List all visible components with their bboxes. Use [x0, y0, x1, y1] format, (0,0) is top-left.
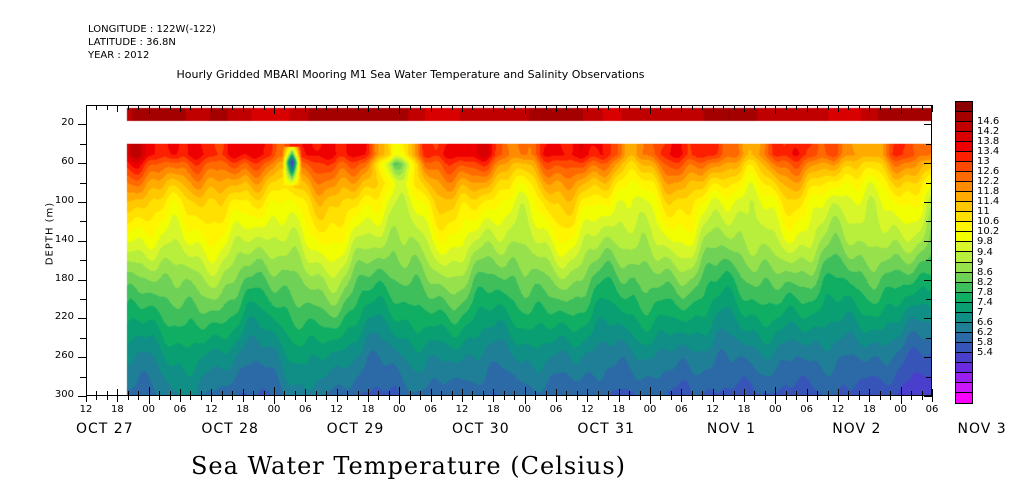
- x-tick: [754, 105, 755, 110]
- x-tick: [848, 105, 849, 110]
- x-tick: [922, 396, 923, 400]
- colorbar-cell: [956, 152, 972, 162]
- colorbar-cell: [956, 383, 972, 393]
- y-tick: [78, 163, 86, 164]
- x-tick: [243, 396, 244, 402]
- x-tick: [692, 396, 693, 400]
- x-hour-label: 18: [228, 404, 258, 415]
- x-tick: [796, 396, 797, 400]
- y-tick: [78, 396, 86, 397]
- x-tick: [640, 396, 641, 400]
- x-tick: [86, 105, 87, 112]
- x-tick: [170, 105, 171, 110]
- x-tick: [650, 105, 651, 114]
- y-tick: [80, 183, 86, 184]
- x-tick: [149, 387, 150, 396]
- x-day-label: OCT 29: [300, 421, 410, 437]
- heatmap-canvas: [87, 106, 931, 395]
- x-hour-label: 06: [165, 404, 195, 415]
- colorbar-cell: [956, 222, 972, 232]
- x-tick: [431, 389, 432, 396]
- colorbar-cell: [956, 212, 972, 222]
- x-tick: [378, 396, 379, 400]
- plot-area: [86, 105, 932, 396]
- y-tick: [926, 144, 932, 145]
- x-tick: [316, 105, 317, 110]
- x-tick: [358, 396, 359, 400]
- x-tick: [483, 396, 484, 400]
- x-tick: [744, 389, 745, 396]
- x-tick: [765, 396, 766, 400]
- x-tick: [650, 396, 651, 404]
- x-tick: [598, 105, 599, 110]
- y-tick: [926, 338, 932, 339]
- x-tick: [180, 389, 181, 396]
- x-tick: [180, 396, 181, 402]
- x-tick: [546, 396, 547, 400]
- x-tick: [577, 396, 578, 400]
- x-tick: [274, 396, 275, 404]
- x-tick: [159, 105, 160, 110]
- x-hour-label: 00: [635, 404, 665, 415]
- y-tick: [78, 280, 86, 281]
- x-tick: [598, 396, 599, 400]
- x-tick: [232, 396, 233, 400]
- x-tick: [650, 387, 651, 396]
- x-tick: [222, 396, 223, 400]
- x-tick: [337, 389, 338, 396]
- x-tick: [838, 105, 839, 112]
- x-hour-label: 12: [196, 404, 226, 415]
- x-tick: [556, 396, 557, 402]
- x-hour-label: 00: [760, 404, 790, 415]
- x-tick: [462, 389, 463, 396]
- x-hour-label: 18: [102, 404, 132, 415]
- x-tick: [702, 105, 703, 110]
- x-tick: [786, 396, 787, 400]
- y-tick: [80, 260, 86, 261]
- x-tick: [681, 396, 682, 402]
- colorbar-cell: [956, 273, 972, 283]
- x-day-label: OCT 30: [426, 421, 536, 437]
- colorbar-cell: [956, 242, 972, 252]
- colorbar-cell: [956, 112, 972, 122]
- x-tick: [514, 396, 515, 400]
- x-tick: [577, 105, 578, 110]
- x-hour-label: 18: [478, 404, 508, 415]
- y-tick-label: 300: [34, 389, 74, 400]
- bottom-title: Sea Water Temperature (Celsius): [0, 452, 913, 480]
- x-day-label: NOV 2: [802, 421, 912, 437]
- x-tick: [535, 396, 536, 400]
- x-tick: [128, 105, 129, 110]
- x-hour-label: 06: [290, 404, 320, 415]
- x-tick: [190, 105, 191, 110]
- x-hour-label: 12: [71, 404, 101, 415]
- x-tick: [702, 396, 703, 400]
- colorbar: [955, 101, 973, 404]
- x-tick: [159, 396, 160, 400]
- x-tick: [807, 396, 808, 402]
- x-tick: [713, 389, 714, 396]
- x-tick: [535, 105, 536, 110]
- y-tick-label: 220: [34, 311, 74, 322]
- x-tick: [337, 105, 338, 112]
- x-tick: [441, 105, 442, 110]
- y-tick: [926, 299, 932, 300]
- x-tick: [859, 396, 860, 400]
- x-tick: [629, 396, 630, 400]
- x-tick: [138, 105, 139, 110]
- x-tick: [765, 105, 766, 110]
- colorbar-cell: [956, 293, 972, 303]
- x-hour-label: 06: [416, 404, 446, 415]
- x-tick: [890, 396, 891, 400]
- y-tick-label: 140: [34, 234, 74, 245]
- y-tick: [78, 202, 86, 203]
- colorbar-cell: [956, 363, 972, 373]
- y-tick: [924, 202, 932, 203]
- colorbar-cell: [956, 162, 972, 172]
- x-tick: [775, 105, 776, 114]
- x-tick: [754, 396, 755, 400]
- x-tick: [901, 387, 902, 396]
- x-tick: [107, 105, 108, 110]
- x-tick: [201, 396, 202, 400]
- x-tick: [420, 396, 421, 400]
- colorbar-cell: [956, 202, 972, 212]
- x-tick: [587, 389, 588, 396]
- x-tick: [619, 105, 620, 112]
- x-tick: [472, 105, 473, 110]
- x-hour-label: 18: [729, 404, 759, 415]
- x-day-label: NOV 1: [676, 421, 786, 437]
- colorbar-cell: [956, 102, 972, 112]
- x-hour-label: 06: [917, 404, 947, 415]
- y-tick: [78, 241, 86, 242]
- colorbar-cell: [956, 333, 972, 343]
- x-hour-label: 00: [384, 404, 414, 415]
- x-tick: [681, 389, 682, 396]
- x-tick: [368, 389, 369, 396]
- x-tick: [608, 105, 609, 110]
- x-tick: [243, 389, 244, 396]
- colorbar-tick-label: 5.4: [977, 347, 993, 358]
- x-hour-label: 18: [604, 404, 634, 415]
- colorbar-cell: [956, 263, 972, 273]
- x-tick: [264, 105, 265, 110]
- x-tick: [305, 105, 306, 112]
- x-tick: [399, 396, 400, 404]
- x-hour-label: 00: [886, 404, 916, 415]
- x-tick: [504, 396, 505, 400]
- x-tick: [441, 396, 442, 400]
- x-tick: [326, 396, 327, 400]
- x-tick: [462, 105, 463, 112]
- x-tick: [452, 105, 453, 110]
- x-tick: [190, 396, 191, 400]
- x-tick: [86, 396, 87, 402]
- colorbar-cell: [956, 303, 972, 313]
- x-tick: [462, 396, 463, 402]
- x-tick: [149, 105, 150, 114]
- x-tick: [452, 396, 453, 400]
- x-tick: [483, 105, 484, 110]
- y-tick: [80, 377, 86, 378]
- x-tick: [274, 387, 275, 396]
- x-tick: [305, 389, 306, 396]
- x-tick: [295, 105, 296, 110]
- colorbar-cell: [956, 132, 972, 142]
- x-tick: [525, 396, 526, 404]
- x-tick: [828, 105, 829, 110]
- x-tick: [86, 389, 87, 396]
- x-tick: [660, 396, 661, 400]
- x-tick: [525, 387, 526, 396]
- x-tick: [117, 389, 118, 396]
- colorbar-cell: [956, 323, 972, 333]
- x-hour-label: 12: [572, 404, 602, 415]
- x-tick: [326, 105, 327, 110]
- y-tick: [924, 124, 932, 125]
- x-tick: [295, 396, 296, 400]
- x-tick: [347, 105, 348, 110]
- x-tick: [932, 389, 933, 396]
- x-tick: [243, 105, 244, 112]
- colorbar-cell: [956, 172, 972, 182]
- y-tick: [926, 183, 932, 184]
- x-tick: [880, 396, 881, 400]
- x-tick: [775, 387, 776, 396]
- x-tick: [629, 105, 630, 110]
- colorbar-cell: [956, 343, 972, 353]
- y-tick: [78, 357, 86, 358]
- x-tick: [911, 396, 912, 400]
- y-tick: [78, 318, 86, 319]
- x-tick: [587, 105, 588, 112]
- x-tick: [201, 105, 202, 110]
- x-hour-label: 12: [447, 404, 477, 415]
- x-tick: [431, 105, 432, 112]
- x-tick: [284, 396, 285, 400]
- y-tick: [80, 221, 86, 222]
- x-tick: [149, 396, 150, 404]
- x-tick: [211, 105, 212, 112]
- x-tick: [734, 105, 735, 110]
- x-tick: [347, 396, 348, 400]
- x-hour-label: 06: [666, 404, 696, 415]
- x-hour-label: 00: [259, 404, 289, 415]
- y-tick: [924, 357, 932, 358]
- y-tick-label: 100: [34, 195, 74, 206]
- x-tick: [775, 396, 776, 404]
- colorbar-cell: [956, 353, 972, 363]
- x-tick: [838, 396, 839, 402]
- x-tick: [566, 396, 567, 400]
- x-tick: [681, 105, 682, 112]
- x-tick: [922, 105, 923, 110]
- x-hour-label: 00: [134, 404, 164, 415]
- colorbar-cell: [956, 283, 972, 293]
- x-tick: [901, 396, 902, 404]
- x-tick: [890, 105, 891, 110]
- x-tick: [274, 105, 275, 114]
- x-tick: [671, 396, 672, 400]
- x-tick: [420, 105, 421, 110]
- latitude-label: LATITUDE : 36.8N: [88, 37, 176, 48]
- x-tick: [619, 389, 620, 396]
- x-tick: [619, 396, 620, 402]
- x-hour-label: 18: [854, 404, 884, 415]
- x-tick: [807, 105, 808, 112]
- x-tick: [640, 105, 641, 110]
- x-day-label: OCT 28: [175, 421, 285, 437]
- x-tick: [389, 105, 390, 110]
- x-tick: [399, 387, 400, 396]
- x-tick: [493, 105, 494, 112]
- y-tick: [924, 241, 932, 242]
- x-hour-label: 06: [792, 404, 822, 415]
- x-tick: [180, 105, 181, 112]
- x-tick: [566, 105, 567, 110]
- x-tick: [556, 105, 557, 112]
- x-tick: [337, 396, 338, 402]
- x-tick: [284, 105, 285, 110]
- y-tick: [924, 318, 932, 319]
- y-tick-label: 60: [34, 156, 74, 167]
- x-tick: [869, 389, 870, 396]
- x-tick: [817, 396, 818, 400]
- x-tick: [901, 105, 902, 114]
- y-tick: [926, 260, 932, 261]
- x-tick: [368, 105, 369, 112]
- x-tick: [734, 396, 735, 400]
- y-tick: [924, 396, 932, 397]
- x-hour-label: 00: [510, 404, 540, 415]
- colorbar-cell: [956, 192, 972, 202]
- colorbar-cell: [956, 182, 972, 192]
- x-tick: [744, 396, 745, 402]
- x-tick: [264, 396, 265, 400]
- x-tick: [880, 105, 881, 110]
- y-tick: [926, 221, 932, 222]
- x-tick: [723, 105, 724, 110]
- x-tick: [107, 396, 108, 400]
- x-day-label: NOV 3: [927, 421, 1009, 437]
- x-tick: [117, 105, 118, 112]
- x-tick: [807, 389, 808, 396]
- x-tick: [723, 396, 724, 400]
- x-tick: [211, 396, 212, 402]
- x-tick: [838, 389, 839, 396]
- colorbar-cell: [956, 373, 972, 383]
- colorbar-cell: [956, 142, 972, 152]
- x-tick: [232, 105, 233, 110]
- y-tick: [80, 338, 86, 339]
- x-tick: [96, 396, 97, 400]
- y-tick: [924, 163, 932, 164]
- x-hour-label: 06: [541, 404, 571, 415]
- x-tick: [525, 105, 526, 114]
- x-tick: [170, 396, 171, 400]
- x-tick: [671, 105, 672, 110]
- longitude-label: LONGITUDE : 122W(-122): [88, 24, 216, 35]
- x-tick: [869, 396, 870, 402]
- x-tick: [493, 389, 494, 396]
- x-tick: [556, 389, 557, 396]
- x-hour-label: 12: [823, 404, 853, 415]
- x-day-label: OCT 27: [50, 421, 160, 437]
- x-tick: [692, 105, 693, 110]
- x-tick: [786, 105, 787, 110]
- colorbar-cell: [956, 313, 972, 323]
- y-tick-label: 260: [34, 350, 74, 361]
- colorbar-cell: [956, 232, 972, 242]
- y-tick-label: 180: [34, 273, 74, 284]
- x-tick: [796, 105, 797, 110]
- x-hour-label: 12: [698, 404, 728, 415]
- x-tick: [305, 396, 306, 402]
- y-tick: [80, 299, 86, 300]
- x-tick: [608, 396, 609, 400]
- x-hour-label: 12: [322, 404, 352, 415]
- x-tick: [253, 105, 254, 110]
- x-tick: [138, 396, 139, 400]
- x-tick: [587, 396, 588, 402]
- x-tick: [211, 389, 212, 396]
- y-tick: [78, 124, 86, 125]
- x-tick: [744, 105, 745, 112]
- x-tick: [848, 396, 849, 400]
- x-tick: [504, 105, 505, 110]
- x-tick: [117, 396, 118, 402]
- x-tick: [713, 396, 714, 402]
- x-tick: [493, 396, 494, 402]
- x-tick: [546, 105, 547, 110]
- x-tick: [399, 105, 400, 114]
- x-tick: [410, 105, 411, 110]
- x-tick: [869, 105, 870, 112]
- y-tick-label: 20: [34, 117, 74, 128]
- x-tick: [431, 396, 432, 402]
- x-tick: [316, 396, 317, 400]
- x-tick: [410, 396, 411, 400]
- x-tick: [911, 105, 912, 110]
- x-tick: [472, 396, 473, 400]
- x-tick: [389, 396, 390, 400]
- x-tick: [514, 105, 515, 110]
- chart-title: Hourly Gridded MBARI Mooring M1 Sea Wate…: [0, 68, 915, 81]
- x-tick: [368, 396, 369, 402]
- x-tick: [222, 105, 223, 110]
- x-tick: [358, 105, 359, 110]
- x-tick: [660, 105, 661, 110]
- x-tick: [817, 105, 818, 110]
- colorbar-cell: [956, 252, 972, 262]
- colorbar-cell: [956, 393, 972, 403]
- x-hour-label: 18: [353, 404, 383, 415]
- colorbar-cell: [956, 122, 972, 132]
- x-tick: [378, 105, 379, 110]
- x-day-label: OCT 31: [551, 421, 661, 437]
- y-tick: [924, 280, 932, 281]
- x-tick: [96, 105, 97, 110]
- x-tick: [859, 105, 860, 110]
- x-tick: [932, 396, 933, 402]
- x-tick: [253, 396, 254, 400]
- x-tick: [828, 396, 829, 400]
- x-tick: [932, 105, 933, 112]
